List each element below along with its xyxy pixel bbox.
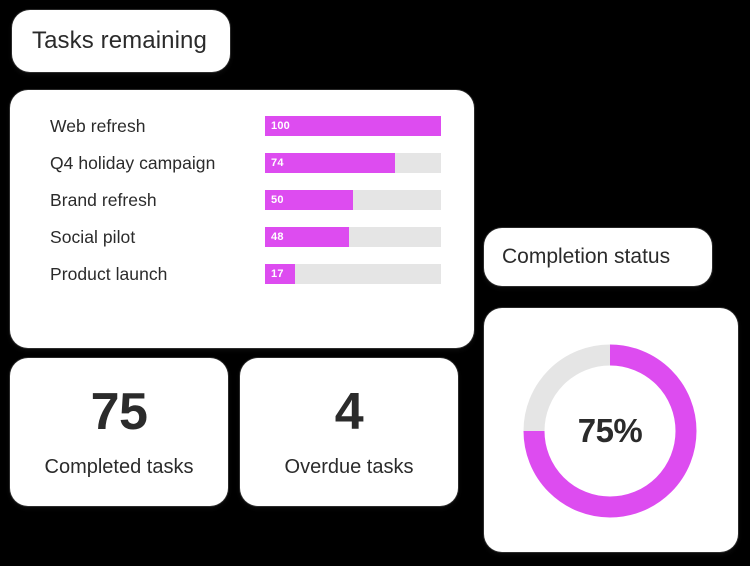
bar-chart-row: Brand refresh50 xyxy=(50,189,452,211)
bar-track: 48 xyxy=(265,227,441,247)
bar-value-label: 17 xyxy=(271,268,284,280)
bar-category-label: Brand refresh xyxy=(50,190,265,211)
donut-chart: 75% xyxy=(517,338,703,524)
bar-track: 50 xyxy=(265,190,441,210)
page-title: Tasks remaining xyxy=(12,27,207,55)
bar-chart-row: Product launch17 xyxy=(50,263,452,285)
completion-status-chart-card: 75% xyxy=(484,308,738,552)
kpi-value: 4 xyxy=(335,386,363,438)
bar-chart-row: Web refresh100 xyxy=(50,115,452,137)
bar-value-label: 100 xyxy=(271,120,290,132)
bar-chart-row: Q4 holiday campaign74 xyxy=(50,152,452,174)
kpi-label: Completed tasks xyxy=(45,456,194,479)
bar-value-label: 50 xyxy=(271,194,284,206)
kpi-card-completed-tasks: 75 Completed tasks xyxy=(10,358,228,506)
completion-status-title: Completion status xyxy=(484,245,670,269)
completion-status-title-card: Completion status xyxy=(484,228,712,286)
kpi-value: 75 xyxy=(91,386,148,438)
bar-track: 100 xyxy=(265,116,441,136)
bar-fill[interactable]: 48 xyxy=(265,227,349,247)
tasks-remaining-chart-card: Web refresh100Q4 holiday campaign74Brand… xyxy=(10,90,474,348)
bar-category-label: Social pilot xyxy=(50,227,265,248)
bar-category-label: Product launch xyxy=(50,264,265,285)
kpi-label: Overdue tasks xyxy=(285,456,414,479)
bar-category-label: Web refresh xyxy=(50,116,265,137)
bar-chart-row: Social pilot48 xyxy=(50,226,452,248)
horizontal-bar-chart: Web refresh100Q4 holiday campaign74Brand… xyxy=(10,90,474,348)
bar-category-label: Q4 holiday campaign xyxy=(50,153,265,174)
bar-fill[interactable]: 50 xyxy=(265,190,353,210)
bar-fill[interactable]: 100 xyxy=(265,116,441,136)
tasks-remaining-title-card: Tasks remaining xyxy=(12,10,230,72)
kpi-card-overdue-tasks: 4 Overdue tasks xyxy=(240,358,458,506)
bar-track: 74 xyxy=(265,153,441,173)
bar-fill[interactable]: 74 xyxy=(265,153,395,173)
donut-center-label: 75% xyxy=(517,338,703,524)
bar-value-label: 48 xyxy=(271,231,284,243)
bar-fill[interactable]: 17 xyxy=(265,264,295,284)
bar-track: 17 xyxy=(265,264,441,284)
bar-value-label: 74 xyxy=(271,157,284,169)
dashboard-canvas: Tasks remaining Web refresh100Q4 holiday… xyxy=(0,0,750,566)
